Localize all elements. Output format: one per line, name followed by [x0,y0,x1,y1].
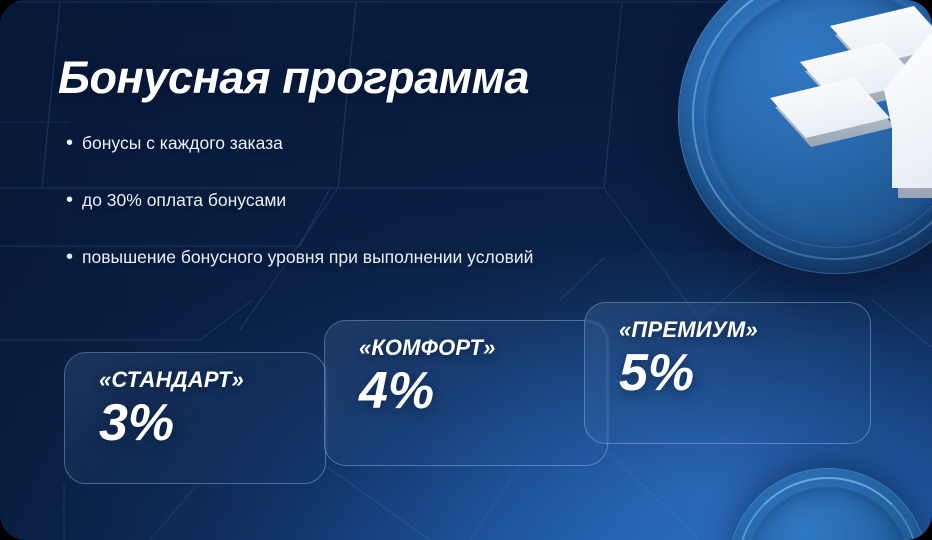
tier-card-premium: «ПРЕМИУМ» 5% [584,302,871,444]
tier-card-comfort: «КОМФОРТ» 4% [324,320,608,466]
page-title: Бонусная программа [58,54,529,101]
tier-value: 5% [619,347,870,400]
list-item-label: до 30% оплата бонусами [82,188,286,212]
tier-name: «КОМФОРТ» [359,335,607,361]
tier-card-standard: «СТАНДАРТ» 3% [64,352,326,484]
bullet-dot-icon: • [66,131,82,155]
list-item-label: повышение бонусного уровня при выполнени… [82,245,533,269]
list-item: • повышение бонусного уровня при выполне… [66,245,786,302]
tier-value: 4% [359,365,607,418]
feature-list: • бонусы с каждого заказа • до 30% оплат… [66,131,786,302]
bullet-dot-icon: • [66,245,82,269]
list-item: • до 30% оплата бонусами [66,188,786,245]
list-item: • бонусы с каждого заказа [66,131,786,188]
company-logo-coin-secondary [728,468,928,540]
tier-name: «СТАНДАРТ» [99,367,325,393]
bonus-program-banner: Бонусная программа • бонусы с каждого за… [0,0,932,540]
company-emblem-icon-secondary [728,468,928,540]
list-item-label: бонусы с каждого заказа [82,131,283,155]
tier-name: «ПРЕМИУМ» [619,317,870,343]
tier-value: 3% [99,397,325,450]
bullet-dot-icon: • [66,188,82,212]
